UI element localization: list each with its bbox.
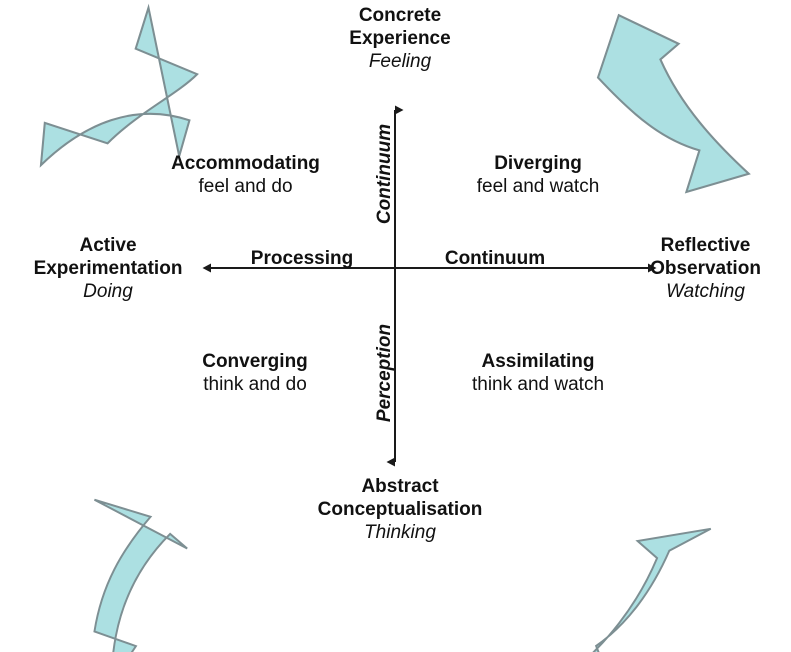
- quadrant-converging-desc: think and do: [160, 373, 350, 396]
- pole-left-italic: Doing: [8, 280, 208, 303]
- pole-right-line1: Reflective: [618, 234, 791, 257]
- pole-top-italic: Feeling: [295, 50, 505, 73]
- axis-label-processing: Processing: [237, 247, 367, 270]
- pole-left-line1: Active: [8, 234, 208, 257]
- arrow-bottom-right-down-left: [564, 529, 710, 652]
- quadrant-label-diverging: Diverging feel and watch: [443, 152, 633, 198]
- quadrant-label-accommodating: Accommodating feel and do: [138, 152, 353, 198]
- axis-label-continuum-horizontal: Continuum: [425, 247, 565, 270]
- quadrant-label-assimilating: Assimilating think and watch: [438, 350, 638, 396]
- quadrant-assimilating-desc: think and watch: [438, 373, 638, 396]
- quadrant-diverging-desc: feel and watch: [443, 175, 633, 198]
- pole-label-active-experimentation: Active Experimentation Doing: [8, 234, 208, 304]
- pole-left-line2: Experimentation: [8, 257, 208, 280]
- pole-top-line2: Experience: [295, 27, 505, 50]
- quadrant-accommodating-name: Accommodating: [138, 152, 353, 175]
- pole-bottom-line2: Conceptualisation: [295, 498, 505, 521]
- quadrant-label-converging: Converging think and do: [160, 350, 350, 396]
- pole-right-line2: Observation: [618, 257, 791, 280]
- quadrant-diverging-name: Diverging: [443, 152, 633, 175]
- pole-top-line1: Concrete: [295, 4, 505, 27]
- diagram-canvas: Concrete Experience Feeling Abstract Con…: [0, 0, 791, 652]
- pole-right-italic: Watching: [618, 280, 791, 303]
- quadrant-assimilating-name: Assimilating: [438, 350, 638, 373]
- axis-label-continuum-vertical: Continuum: [374, 99, 396, 249]
- quadrant-accommodating-desc: feel and do: [138, 175, 353, 198]
- axis-label-perception-vertical: Perception: [374, 298, 396, 448]
- quadrant-converging-name: Converging: [160, 350, 350, 373]
- pole-bottom-italic: Thinking: [295, 521, 505, 544]
- arrow-top-left-up-right: [41, 8, 197, 165]
- pole-label-abstract-conceptualisation: Abstract Conceptualisation Thinking: [295, 475, 505, 545]
- pole-label-reflective-observation: Reflective Observation Watching: [618, 234, 791, 304]
- pole-bottom-line1: Abstract: [295, 475, 505, 498]
- arrow-bottom-left-up-left: [94, 500, 187, 652]
- pole-label-concrete-experience: Concrete Experience Feeling: [295, 4, 505, 74]
